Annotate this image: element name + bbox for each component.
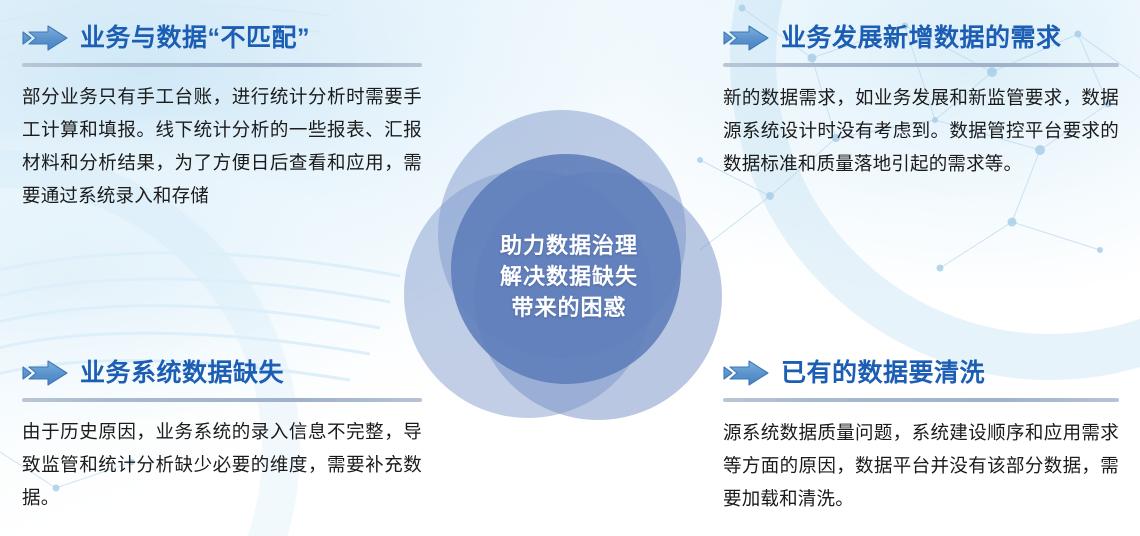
section-divider-top-right [723, 63, 1119, 67]
center-statement-line-1: 助力数据治理 [500, 230, 638, 261]
center-statement: 助力数据治理 解决数据缺失 带来的困惑 [404, 100, 734, 430]
section-header-top-left: 业务与数据“不匹配” [22, 18, 422, 58]
section-title-bottom-left: 业务系统数据缺失 [80, 361, 284, 386]
section-divider-bottom-left [22, 398, 422, 402]
right-arrow-icon [723, 24, 769, 52]
section-title-bottom-right: 已有的数据要清洗 [781, 361, 985, 386]
right-arrow-icon [22, 24, 68, 52]
section-body-top-right: 新的数据需求，如业务发展和新监管要求，数据源系统设计时没有考虑到。数据管控平台要… [723, 81, 1119, 180]
section-title-top-left: 业务与数据“不匹配” [80, 26, 310, 51]
center-statement-line-2: 解决数据缺失 [500, 261, 638, 292]
section-divider-top-left [22, 63, 422, 67]
section-body-bottom-right: 源系统数据质量问题，系统建设顺序和应用需求等方面的原因，数据平台并没有该部分数据… [723, 416, 1119, 515]
section-divider-bottom-right [723, 398, 1119, 402]
section-header-bottom-right: 已有的数据要清洗 [723, 353, 1119, 393]
right-arrow-icon [723, 359, 769, 387]
section-title-top-right: 业务发展新增数据的需求 [781, 26, 1062, 51]
section-top-left: 业务与数据“不匹配” 部分业务只有手工台账，进行统计分析时需要手工计算和填报。线… [22, 18, 422, 212]
section-header-top-right: 业务发展新增数据的需求 [723, 18, 1119, 58]
right-arrow-icon [22, 359, 68, 387]
section-body-bottom-left: 由于历史原因，业务系统的录入信息不完整，导致监管和统计分析缺少必要的维度，需要补… [22, 415, 422, 514]
section-top-right: 业务发展新增数据的需求 新的数据需求，如业务发展和新监管要求，数据源系统设计时没… [723, 18, 1119, 180]
center-statement-line-3: 带来的困惑 [511, 292, 626, 323]
section-bottom-left: 业务系统数据缺失 由于历史原因，业务系统的录入信息不完整，导致监管和统计分析缺少… [22, 353, 422, 514]
section-header-bottom-left: 业务系统数据缺失 [22, 353, 422, 393]
section-bottom-right: 已有的数据要清洗 源系统数据质量问题，系统建设顺序和应用需求等方面的原因，数据平… [723, 353, 1119, 515]
section-body-top-left: 部分业务只有手工台账，进行统计分析时需要手工计算和填报。线下统计分析的一些报表、… [22, 80, 422, 212]
center-venn-graphic: 助力数据治理 解决数据缺失 带来的困惑 [404, 100, 734, 430]
slide-canvas: 助力数据治理 解决数据缺失 带来的困惑 业务与数据“不匹配” 部分业务只有手工台… [0, 0, 1140, 536]
